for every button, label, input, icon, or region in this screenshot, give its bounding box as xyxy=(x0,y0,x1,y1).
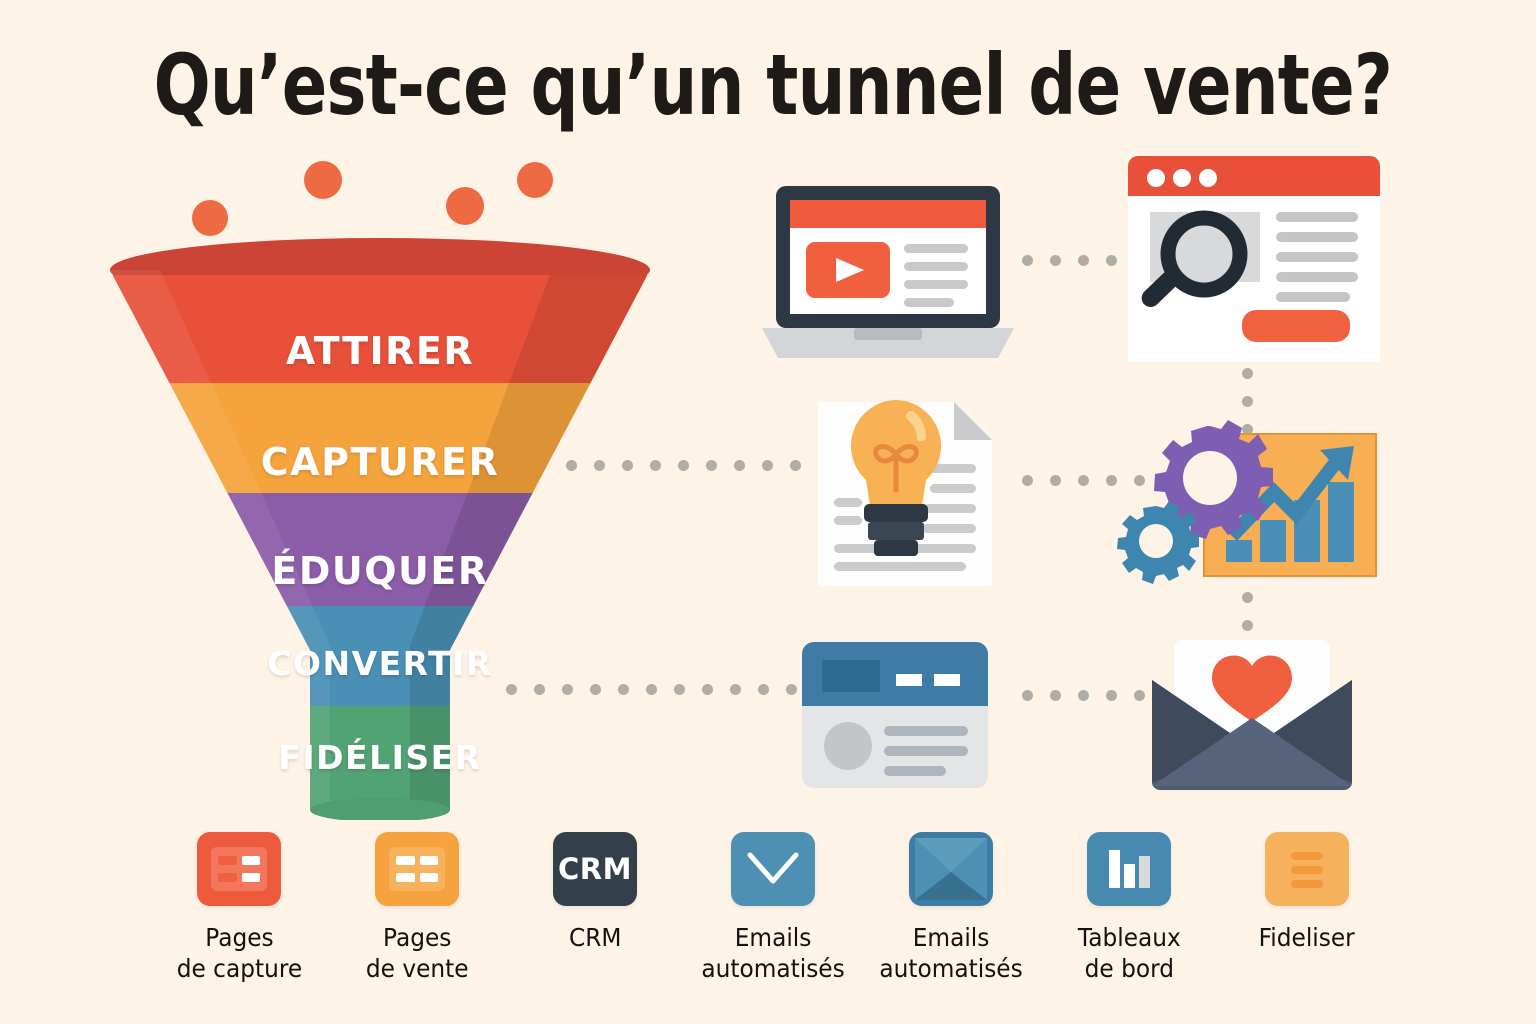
gears-growth-chart-icon xyxy=(1114,404,1384,599)
sales-funnel: ATTIRER CAPTURER ÉDUQUER CONVERTIR FIDÉL… xyxy=(80,150,680,820)
legend-item-fideliser[interactable]: Fideliser xyxy=(1218,832,1396,984)
legend-label: Emails automatisés xyxy=(701,923,844,984)
funnel-graphic xyxy=(80,150,680,820)
legend-item-pages-de-vente[interactable]: Pages de vente xyxy=(328,832,506,984)
email-open-icon xyxy=(731,832,815,906)
legend-label: Pages de capture xyxy=(176,923,301,984)
legend-item-pages-de-capture[interactable]: Pages de capture xyxy=(150,832,328,984)
legend-label: Pages de vente xyxy=(366,923,469,984)
legend-label: Tableaux de bord xyxy=(1078,923,1181,984)
browser-search-icon xyxy=(1124,150,1384,375)
crm-glyph: CRM xyxy=(558,852,632,886)
legend-item-emails-automatises-closed[interactable]: Emails automatisés xyxy=(862,832,1040,984)
connector-convertir-to-card xyxy=(506,684,842,695)
loyalty-list-icon xyxy=(1265,832,1349,906)
infographic-canvas: Qu’est-ce qu’un tunnel de vente? xyxy=(0,0,1536,1024)
email-closed-icon xyxy=(909,832,993,906)
legend-label: Emails automatisés xyxy=(879,923,1022,984)
legend-label: Fideliser xyxy=(1259,923,1355,954)
crm-icon: CRM xyxy=(553,832,637,906)
legend-item-emails-automatises-open[interactable]: Emails automatisés xyxy=(684,832,862,984)
page-title: Qu’est-ce qu’un tunnel de vente? xyxy=(154,36,1383,134)
contact-card-icon xyxy=(800,640,990,795)
capture-page-icon xyxy=(197,832,281,906)
legend-row: Pages de capture Pages de vente CRM CRM xyxy=(150,832,1450,984)
laptop-video-icon xyxy=(758,186,1018,371)
connector-card-to-mail xyxy=(1022,690,1162,701)
envelope-heart-icon xyxy=(1142,636,1362,801)
document-lightbulb-icon xyxy=(806,394,1006,599)
legend-label: CRM xyxy=(569,923,621,954)
sales-page-icon xyxy=(375,832,459,906)
funnel-bands xyxy=(80,270,680,820)
legend-item-crm[interactable]: CRM CRM xyxy=(506,832,684,984)
dashboard-chart-icon xyxy=(1087,832,1171,906)
legend-item-tableaux-de-bord[interactable]: Tableaux de bord xyxy=(1040,832,1218,984)
